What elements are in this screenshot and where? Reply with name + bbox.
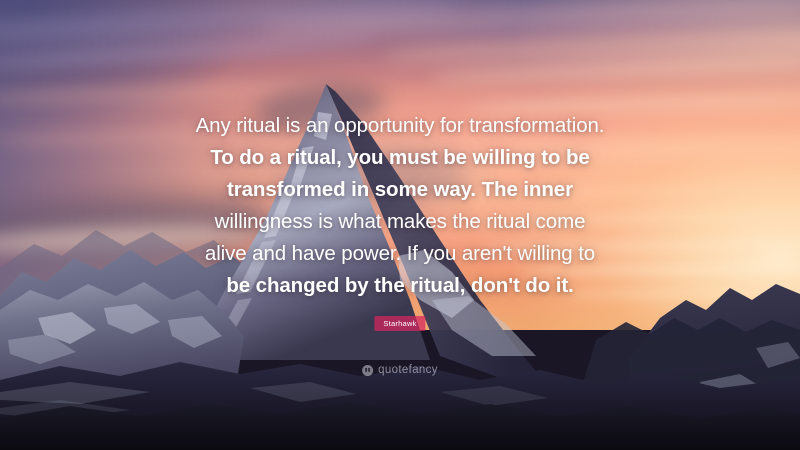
quote-bubble-icon: [362, 365, 373, 376]
quote-line: Any ritual is an opportunity for transfo…: [120, 110, 680, 142]
watermark-label: quotefancy: [378, 365, 438, 377]
quote-line: alive and have power. If you aren't will…: [120, 238, 680, 270]
quote-wallpaper: Any ritual is an opportunity for transfo…: [0, 0, 800, 450]
author-name-badge[interactable]: Starhawk: [374, 316, 425, 331]
quote-text-block: Any ritual is an opportunity for transfo…: [0, 110, 800, 302]
quote-line: willingness is what makes the ritual com…: [120, 206, 680, 238]
quote-line: be changed by the ritual, don't do it.: [120, 270, 680, 302]
quotefancy-watermark[interactable]: quotefancy: [362, 365, 438, 377]
quote-line: To do a ritual, you must be willing to b…: [120, 142, 680, 174]
quote-line: transformed in some way. The inner: [120, 174, 680, 206]
